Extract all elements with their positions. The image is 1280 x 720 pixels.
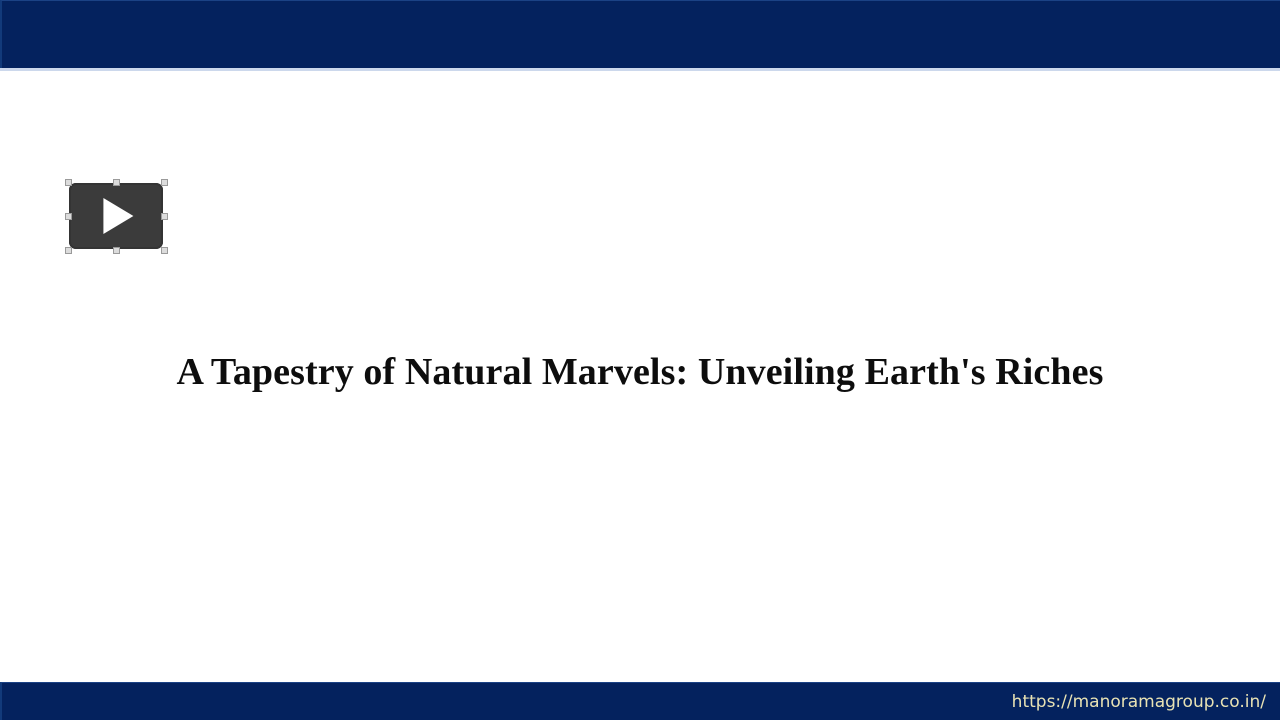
video-placeholder-object[interactable] (66, 180, 166, 252)
play-icon[interactable] (103, 198, 133, 234)
slide-title: A Tapestry of Natural Marvels: Unveiling… (100, 348, 1180, 396)
resize-handle-middle-left[interactable] (65, 213, 72, 220)
slide-canvas: A Tapestry of Natural Marvels: Unveiling… (0, 0, 1280, 720)
resize-handle-top-right[interactable] (161, 179, 168, 186)
top-banner (0, 0, 1280, 68)
bottom-banner: https://manoramagroup.co.in/ (0, 682, 1280, 720)
video-frame[interactable] (69, 183, 163, 249)
resize-handle-top-left[interactable] (65, 179, 72, 186)
resize-handle-middle-right[interactable] (161, 213, 168, 220)
resize-handle-top-middle[interactable] (113, 179, 120, 186)
resize-handle-bottom-middle[interactable] (113, 247, 120, 254)
top-banner-underline (0, 68, 1280, 71)
resize-handle-bottom-right[interactable] (161, 247, 168, 254)
footer-url-link[interactable]: https://manoramagroup.co.in/ (1012, 691, 1266, 713)
resize-handle-bottom-left[interactable] (65, 247, 72, 254)
slide-title-block: A Tapestry of Natural Marvels: Unveiling… (100, 348, 1180, 396)
